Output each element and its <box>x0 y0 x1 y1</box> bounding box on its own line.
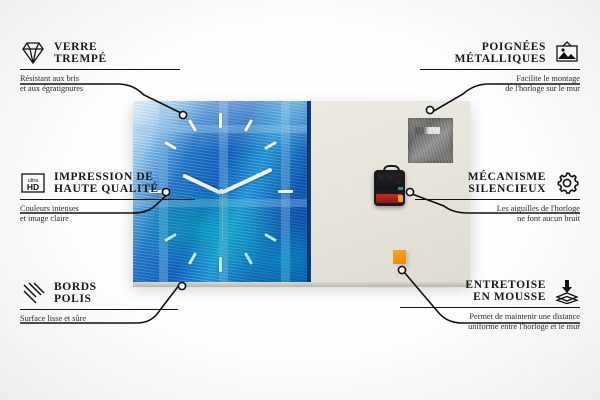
clock-tick <box>164 141 177 150</box>
callout-title-line2: EN MOUSSE <box>465 291 546 304</box>
callout-desc-line1: Les aiguilles de l'horloge <box>415 204 580 214</box>
callout-title-line1: VERRE <box>54 41 107 54</box>
callout-title-line1: BORDS <box>54 281 97 294</box>
callout-desc-line1: Facilite le montage <box>420 74 580 84</box>
callout-rule <box>20 69 180 70</box>
callout-title-line2: MÉTALLIQUES <box>455 53 546 66</box>
callout-title-line2: POLIS <box>54 293 97 306</box>
callout-desc-line1: Résistant aux bris <box>20 74 180 84</box>
foam-spacer-icon <box>554 278 580 304</box>
callout-desc-line2: et image claire <box>20 214 195 224</box>
mechanism-battery <box>376 194 402 203</box>
callout-impression-hd[interactable]: ultra HD IMPRESSION DE HAUTE QUALITÉ Cou… <box>20 170 195 224</box>
clock-second-hand <box>222 192 223 240</box>
clock-hub <box>219 189 224 194</box>
callout-title-line1: ENTRETOISE <box>465 279 546 292</box>
clock-tick <box>219 113 222 128</box>
callout-desc-line1: Surface lisse et sûre <box>20 314 178 324</box>
diamond-icon <box>20 40 46 66</box>
infographic-canvas: VERRE TREMPÉ Résistant aux bris et aux é… <box>0 0 600 400</box>
picture-hanger-icon <box>554 40 580 66</box>
callout-rule <box>400 307 580 308</box>
clock-tick <box>219 257 222 272</box>
callout-desc-line2: de l'horloge sur le mur <box>420 84 580 94</box>
panel-grid-line <box>281 101 290 283</box>
panel-grid-line <box>219 101 228 283</box>
callout-desc-line2: uniforme entre l'horloge et le mur <box>400 322 580 332</box>
callout-poignees-metalliques[interactable]: POIGNÉES MÉTALLIQUES Facilite le montage… <box>420 40 580 94</box>
callout-title-line2: HAUTE QUALITÉ <box>54 183 159 196</box>
gear-icon <box>554 170 580 196</box>
callout-title-line1: POIGNÉES <box>455 41 546 54</box>
svg-text:HD: HD <box>27 182 39 192</box>
clock-tick <box>244 252 253 265</box>
callout-bords-polis[interactable]: BORDS POLIS Surface lisse et sûre <box>20 280 178 324</box>
callout-mecanisme-silencieux[interactable]: MÉCANISME SILENCIEUX Les aiguilles de l'… <box>415 170 580 224</box>
clock-tick <box>164 233 177 242</box>
callout-title-line1: IMPRESSION DE <box>54 171 159 184</box>
clock-tick <box>188 119 197 132</box>
callout-title-line1: MÉCANISME <box>468 171 546 184</box>
callout-desc-line1: Permet de maintenir une distance <box>400 312 580 322</box>
orange-foam-spacer <box>393 250 406 264</box>
clock-mechanism <box>374 170 405 206</box>
callout-rule <box>420 69 580 70</box>
callout-rule <box>20 199 195 200</box>
clock-tick <box>264 141 277 150</box>
callout-title-line2: SILENCIEUX <box>468 183 546 196</box>
callout-title-line2: TREMPÉ <box>54 53 107 66</box>
clock-tick <box>278 190 293 193</box>
callout-rule <box>20 309 178 310</box>
ultra-hd-icon: ultra HD <box>20 170 46 196</box>
polished-edges-icon <box>20 280 46 306</box>
clock-minute-hand <box>220 168 272 195</box>
callout-desc-line2: ne font aucun bruit <box>415 214 580 224</box>
callout-desc-line1: Couleurs intenses <box>20 204 195 214</box>
clock-tick <box>188 252 197 265</box>
callout-desc-line2: et aux égratignures <box>20 84 180 94</box>
callout-entretoise-en-mousse[interactable]: ENTRETOISE EN MOUSSE Permet de maintenir… <box>400 278 580 332</box>
clock-tick <box>244 119 253 132</box>
callout-verre-trempe[interactable]: VERRE TREMPÉ Résistant aux bris et aux é… <box>20 40 180 94</box>
clock-tick <box>264 233 277 242</box>
mechanism-detail <box>398 187 403 190</box>
metallic-hanger-plate <box>408 118 453 163</box>
panel-grid-line <box>133 125 311 133</box>
callout-rule <box>415 199 580 200</box>
